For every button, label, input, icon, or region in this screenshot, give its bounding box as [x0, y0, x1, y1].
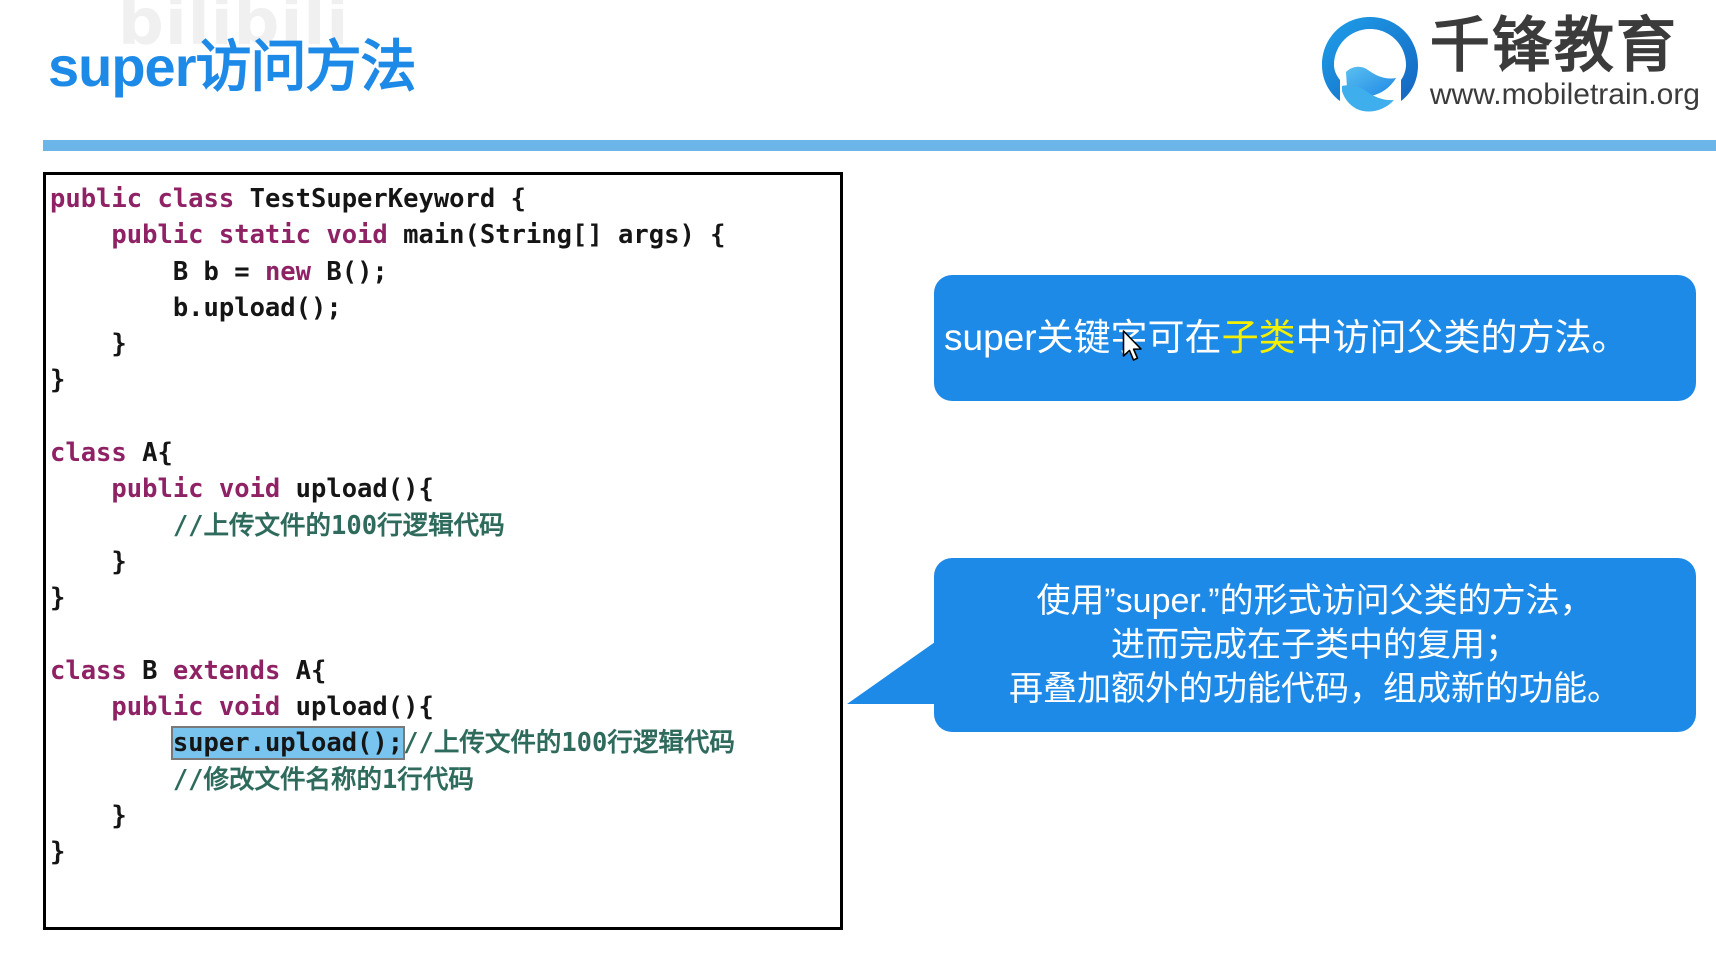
- code-token: //上传文件的100行逻辑代码: [50, 511, 505, 541]
- code-token: }: [50, 329, 127, 359]
- code-listing: public class TestSuperKeyword { public s…: [46, 175, 840, 871]
- code-token: TestSuperKeyword {: [250, 184, 526, 214]
- callout-usage-line-2: 进而完成在子类中的复用；: [946, 623, 1684, 667]
- code-token: A{: [142, 438, 173, 468]
- code-token: //修改文件名称的1行代码: [50, 765, 474, 795]
- code-token: main(String[] args) {: [403, 220, 725, 250]
- code-token: B: [142, 656, 173, 686]
- code-token: super.upload();: [173, 728, 403, 758]
- code-token: }: [50, 583, 65, 613]
- code-token: [50, 728, 173, 758]
- mouse-pointer-icon: [1122, 330, 1144, 364]
- brand-text-wrap: 千锋教育 www.mobiletrain.org: [1430, 12, 1700, 116]
- page-title: super访问方法: [48, 22, 416, 103]
- code-token: B b =: [50, 257, 265, 287]
- code-token: A{: [296, 656, 327, 686]
- code-token: }: [50, 547, 127, 577]
- code-token: upload(){: [296, 692, 434, 722]
- code-token: b.upload();: [50, 293, 342, 323]
- callout-plain-text: super关键字可在: [944, 317, 1222, 358]
- code-token: //上传文件的100行逻辑代码: [403, 728, 735, 758]
- callout-usage: 使用”super.”的形式访问父类的方法， 进而完成在子类中的复用； 再叠加额外…: [934, 558, 1696, 732]
- callout-concept: super关键字可在子类中访问父类的方法。: [934, 275, 1696, 401]
- callout-usage-line-1: 使用”super.”的形式访问父类的方法，: [946, 579, 1684, 623]
- code-panel: public class TestSuperKeyword { public s…: [43, 172, 843, 930]
- code-token: public void: [50, 692, 296, 722]
- code-token: }: [50, 365, 65, 395]
- callout-plain-text: 中访问父类的方法。: [1296, 317, 1629, 358]
- callout-usage-tail: [847, 642, 935, 704]
- header-divider: [43, 140, 1716, 151]
- code-token: public static void: [50, 220, 403, 250]
- code-token: }: [50, 837, 65, 867]
- qianfeng-swoosh-icon: [1316, 12, 1424, 116]
- callout-highlight-text: 子类: [1222, 317, 1296, 358]
- code-token: class: [50, 656, 142, 686]
- code-token: B();: [326, 257, 387, 287]
- brand-logo: 千锋教育 www.mobiletrain.org: [1316, 8, 1700, 120]
- code-token: }: [50, 801, 127, 831]
- brand-name: 千锋教育: [1430, 16, 1700, 76]
- callout-concept-line: super关键字可在子类中访问父类的方法。: [944, 315, 1686, 361]
- callout-usage-line-3: 再叠加额外的功能代码，组成新的功能。: [946, 667, 1684, 711]
- code-token: upload(){: [296, 474, 434, 504]
- code-token: public class: [50, 184, 250, 214]
- brand-url: www.mobiletrain.org: [1430, 78, 1700, 113]
- code-token: new: [265, 257, 326, 287]
- code-token: class: [50, 438, 142, 468]
- code-token: extends: [173, 656, 296, 686]
- code-token: public void: [50, 474, 296, 504]
